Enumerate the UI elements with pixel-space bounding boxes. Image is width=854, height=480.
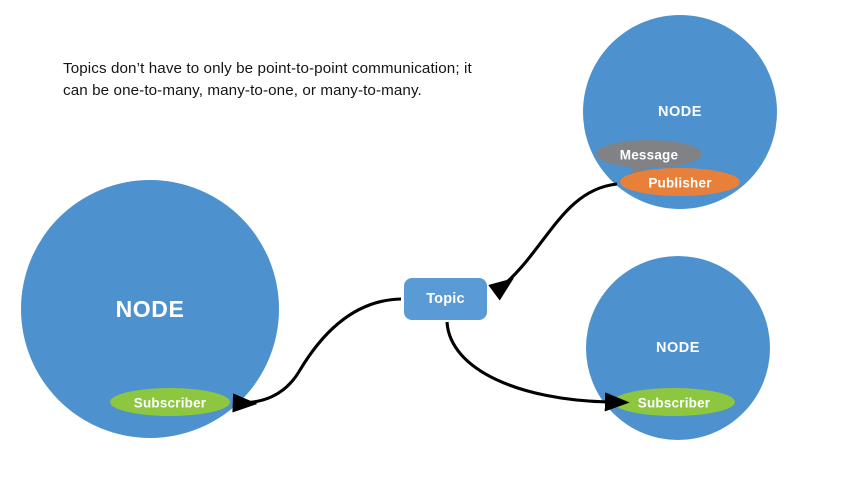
caption-text: Topics don’t have to only be point-to-po… (63, 58, 483, 102)
subscriber-pill-bottom-right[interactable]: Subscriber (613, 388, 735, 416)
subscriber-label-bottom-right: Subscriber (638, 396, 711, 411)
message-label: Message (620, 148, 679, 163)
subscriber-label-left: Subscriber (134, 396, 207, 411)
node-label-bottom-right: NODE (656, 340, 700, 356)
diagram-canvas: NODE NODE NODE Message Publisher Subscri… (0, 0, 854, 480)
arrow-publisher-to-topic (495, 184, 617, 292)
node-label-top-right: NODE (658, 104, 702, 120)
topic-box[interactable]: Topic (404, 278, 487, 320)
subscriber-pill-left[interactable]: Subscriber (110, 388, 230, 416)
publisher-label: Publisher (648, 176, 712, 191)
topic-label: Topic (426, 291, 465, 307)
publisher-pill[interactable]: Publisher (620, 168, 740, 196)
node-label-left: NODE (116, 296, 185, 322)
arrow-topic-to-subscriber-bottom-right (447, 322, 608, 402)
